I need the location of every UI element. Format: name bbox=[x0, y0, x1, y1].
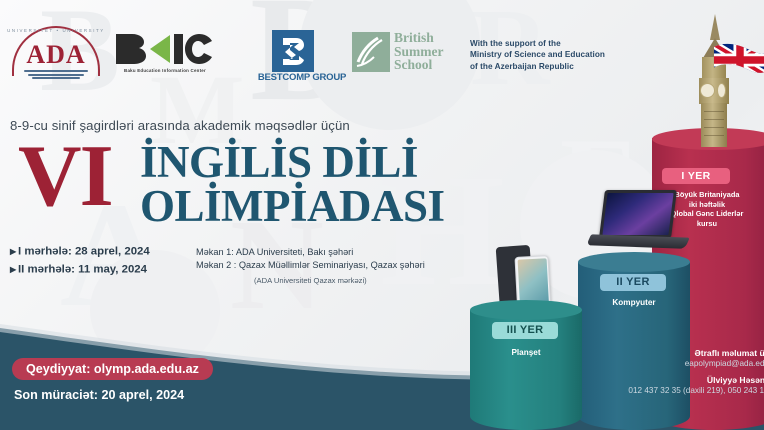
ada-wordmark: ADA bbox=[4, 40, 108, 70]
ministry-support-note: With the support of the Ministry of Scie… bbox=[470, 38, 670, 72]
contact-info-label: Ətraflı məlumat üçün bbox=[595, 348, 764, 358]
ada-steps-icon bbox=[24, 70, 88, 81]
podium-third-place: III YER Planşet bbox=[470, 300, 582, 430]
stage-dates: ▶I mərhələ: 28 aprel, 2024 ▶II mərhələ: … bbox=[10, 243, 150, 278]
bss-line-3: School bbox=[394, 58, 444, 72]
bullet-icon: ▶ bbox=[10, 243, 18, 260]
big-ben-illustration bbox=[690, 14, 736, 146]
bestcomp-caption: BESTCOMP GROUP bbox=[246, 72, 358, 83]
bss-line-1: British bbox=[394, 31, 444, 45]
contact-phones: 012 437 32 35 (daxili 219), 050 243 12 1… bbox=[595, 386, 764, 395]
third-place-prize: Planşet bbox=[470, 348, 582, 357]
bss-mark-icon bbox=[352, 32, 390, 72]
big-ben-clock-section bbox=[699, 78, 729, 104]
laptop-keyboard-base bbox=[586, 234, 689, 248]
big-ben-tower-shaft bbox=[701, 103, 727, 147]
union-jack-flag-icon bbox=[712, 40, 764, 80]
bestcomp-mark-icon bbox=[272, 30, 314, 72]
bss-wordmark: British Summer School bbox=[394, 31, 444, 72]
podium-top bbox=[578, 252, 690, 272]
bestcomp-group-logo: BESTCOMP GROUP bbox=[250, 30, 354, 84]
contact-email[interactable]: eapolympiad@ada.edu.az bbox=[595, 359, 764, 368]
big-ben-spire bbox=[710, 14, 720, 40]
stage-2-label: II mərhələ: 11 may, 2024 bbox=[18, 263, 147, 275]
support-line-3: of the Azerbaijan Republic bbox=[470, 61, 670, 72]
venue-2-note: (ADA Universiteti Qazax mərkəzi) bbox=[196, 274, 425, 287]
third-place-badge: III YER bbox=[492, 322, 558, 339]
support-line-2: Ministry of Science and Education bbox=[470, 49, 670, 60]
stage-1-label: I mərhələ: 28 aprel, 2024 bbox=[18, 246, 150, 258]
bss-line-2: Summer bbox=[394, 45, 444, 59]
ada-university-logo: UNIVERSITET • UNIVERSITY ADA bbox=[4, 26, 108, 84]
laptop-screen bbox=[599, 190, 677, 238]
tablet-wallpaper bbox=[517, 258, 548, 304]
title-line-1: İNGİLİS DİLİ bbox=[140, 140, 445, 184]
british-summer-school-logo: British Summer School bbox=[352, 32, 464, 78]
registration-pill[interactable]: Qeydiyyat: olymp.ada.edu.az bbox=[12, 358, 213, 380]
venue-2: Məkan 2 : Qazax Müəllimlər Seminariyası,… bbox=[196, 259, 425, 272]
beic-logo: Baku Education Information Center bbox=[112, 32, 216, 80]
second-place-prize: Kompyuter bbox=[578, 298, 690, 307]
stage-2-row: ▶II mərhələ: 11 may, 2024 bbox=[10, 261, 150, 279]
stage-1-row: ▶I mərhələ: 28 aprel, 2024 bbox=[10, 243, 150, 261]
bullet-icon: ▶ bbox=[10, 261, 18, 278]
beic-caption: Baku Education Information Center bbox=[114, 68, 216, 73]
podium-top bbox=[470, 300, 582, 320]
poster-canvas: B D R A N H E M UNIVERSITET • UNIVERSITY… bbox=[0, 0, 764, 430]
clock-face-icon bbox=[717, 83, 726, 98]
edition-roman-numeral: VI bbox=[18, 133, 112, 221]
clock-face-icon bbox=[700, 83, 715, 98]
contact-block: Ətraflı məlumat üçün eapolympiad@ada.edu… bbox=[595, 348, 764, 395]
laptop-display bbox=[602, 193, 673, 235]
venue-1: Məkan 1: ADA Universiteti, Bakı şəhəri bbox=[196, 246, 425, 259]
second-place-badge: II YER bbox=[600, 274, 666, 291]
sponsor-logos: UNIVERSITET • UNIVERSITY ADA Baku Educat… bbox=[0, 22, 470, 84]
first-place-badge: I YER bbox=[662, 168, 730, 184]
beic-mark-icon bbox=[114, 32, 214, 66]
application-deadline: Son müraciət: 20 aprel, 2024 bbox=[14, 388, 184, 402]
laptop-prize-illustration bbox=[586, 190, 690, 260]
contact-person: Ülviyyə Həsənova bbox=[595, 375, 764, 385]
podium-second-place: II YER Kompyuter bbox=[578, 252, 690, 430]
venues-block: Məkan 1: ADA Universiteti, Bakı şəhəri M… bbox=[196, 246, 425, 287]
poster-title: İNGİLİS DİLİ OLİMPİADASI bbox=[140, 140, 445, 228]
title-line-2: OLİMPİADASI bbox=[140, 184, 445, 228]
support-line-1: With the support of the bbox=[470, 38, 670, 49]
ada-arc-text: UNIVERSITET • UNIVERSITY bbox=[4, 28, 108, 33]
